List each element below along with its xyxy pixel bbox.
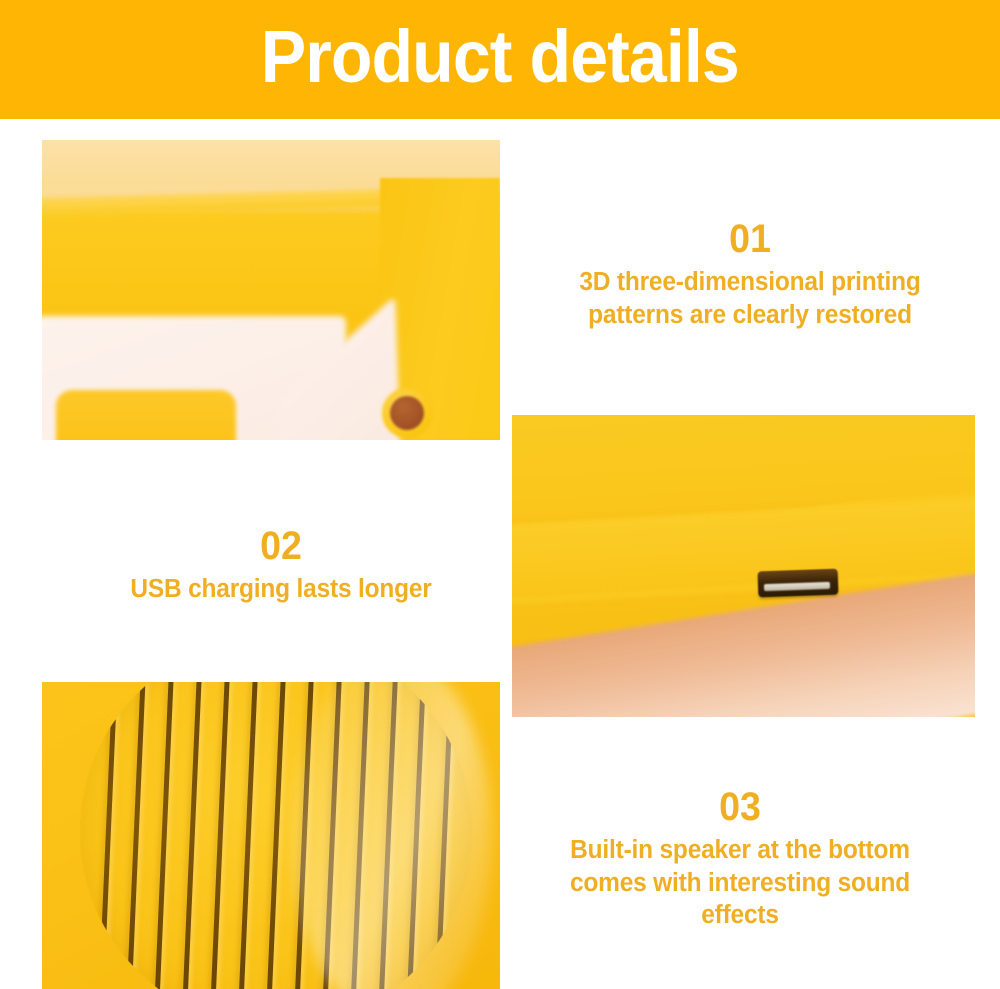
- photo-speaker-slot: [96, 682, 122, 989]
- product-speaker-grille-photo: [42, 682, 500, 989]
- feature-block-02: 02 USB charging lasts longer: [40, 525, 522, 606]
- photo-speaker-slot: [235, 682, 261, 989]
- feature-description-03-line-3: effects: [508, 899, 973, 932]
- feature-description-03: Built-in speaker at the bottom comes wit…: [508, 834, 973, 932]
- page-title: Product details: [261, 20, 739, 100]
- feature-description-02: USB charging lasts longer: [50, 573, 513, 606]
- feature-number-03: 03: [513, 786, 968, 828]
- header-banner: Product details: [0, 0, 1000, 119]
- feature-description-02-line-1: USB charging lasts longer: [50, 573, 513, 606]
- photo-speaker-slot: [152, 682, 178, 989]
- feature-number-02: 02: [54, 525, 507, 567]
- photo-speaker-slot: [263, 682, 289, 989]
- photo-speaker-slot: [179, 682, 205, 989]
- feature-number-01: 01: [523, 218, 978, 260]
- photo-corner-sensor-dot: [390, 396, 424, 430]
- feature-description-03-line-1: Built-in speaker at the bottom: [508, 834, 973, 867]
- feature-description-01-line-2: patterns are clearly restored: [518, 299, 983, 332]
- product-usb-port-photo: [512, 415, 975, 717]
- photo-corner-yellow-button: [56, 390, 236, 440]
- feature-description-01: 3D three-dimensional printing patterns a…: [518, 266, 983, 331]
- photo-speaker-slot: [207, 682, 233, 989]
- feature-block-03: 03 Built-in speaker at the bottom comes …: [498, 786, 982, 932]
- photo-speaker-slot: [124, 682, 150, 989]
- feature-description-03-line-2: comes with interesting sound: [508, 867, 973, 900]
- photo-speaker-gloss-highlight: [292, 682, 492, 989]
- product-corner-sensor-photo: [42, 140, 500, 440]
- feature-description-01-line-1: 3D three-dimensional printing: [518, 266, 983, 299]
- feature-block-01: 01 3D three-dimensional printing pattern…: [508, 218, 992, 331]
